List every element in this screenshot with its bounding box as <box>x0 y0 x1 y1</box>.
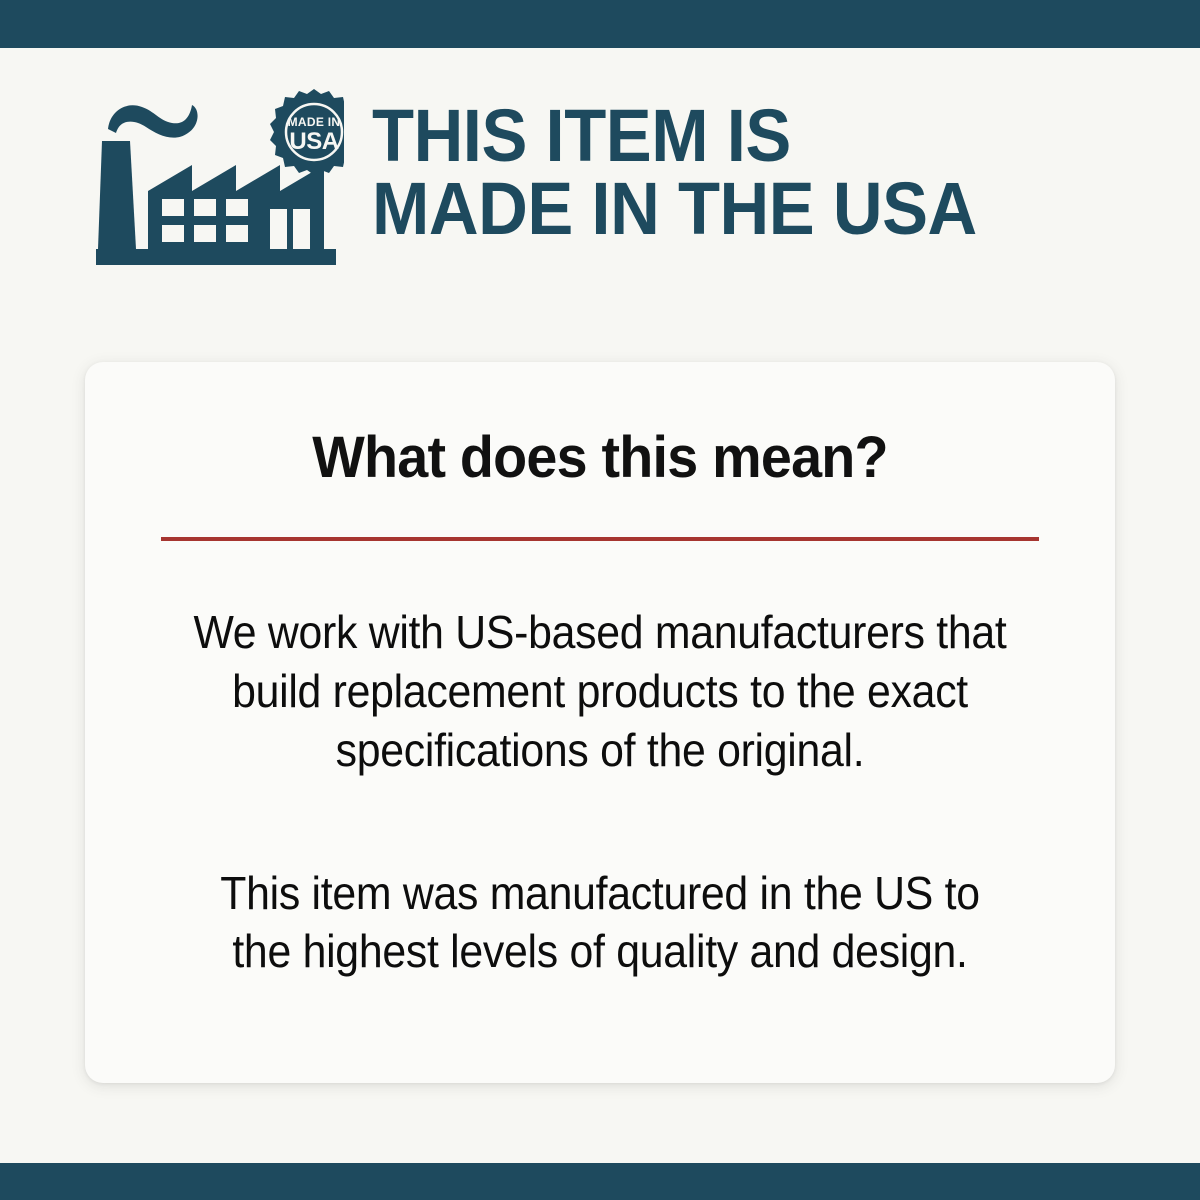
card-paragraph-1: We work with US-based manufacturers that… <box>188 603 1012 780</box>
factory-icon: MADE IN USA <box>96 81 344 271</box>
accent-divider <box>161 537 1039 541</box>
card-heading: What does this mean? <box>175 428 1026 489</box>
badge-made-in-label: MADE IN <box>288 115 341 129</box>
bottom-accent-band <box>0 1163 1200 1200</box>
header: MADE IN USA THIS ITEM IS MADE IN THE USA <box>0 48 1200 298</box>
page-title-line-1: THIS ITEM IS <box>372 100 977 173</box>
made-in-usa-badge-page: MADE IN USA THIS ITEM IS MADE IN THE USA… <box>0 0 1200 1200</box>
card-body: We work with US-based manufacturers that… <box>157 603 1043 981</box>
explanation-card: What does this mean? We work with US-bas… <box>85 362 1115 1083</box>
page-title: THIS ITEM IS MADE IN THE USA <box>372 100 977 245</box>
badge-usa-label: USA <box>289 128 338 155</box>
top-accent-band <box>0 0 1200 48</box>
page-title-line-2: MADE IN THE USA <box>372 173 977 246</box>
card-paragraph-2: This item was manufactured in the US to … <box>188 864 1012 982</box>
